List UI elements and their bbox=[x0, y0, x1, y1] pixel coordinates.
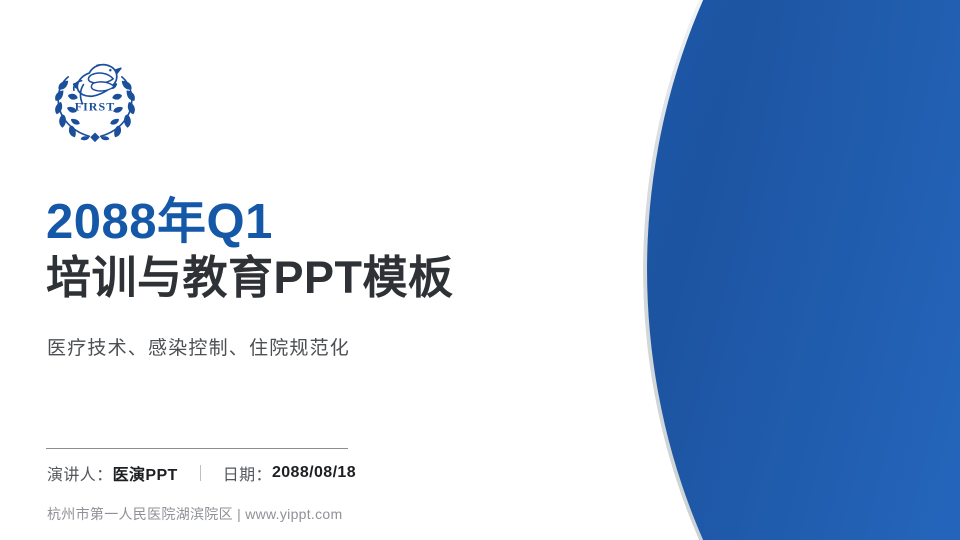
title-line-1: 2088年Q1 bbox=[46, 196, 516, 250]
page-title: 2088年Q1 培训与教育PPT模板 bbox=[46, 196, 516, 304]
slide-content: FIRST 2088年Q1 培训与教育PPT模板 医疗技术、感染控制、住院规范化… bbox=[46, 0, 466, 540]
date-value: 2088/08/18 bbox=[272, 464, 356, 482]
presentation-slide: FIRST 2088年Q1 培训与教育PPT模板 医疗技术、感染控制、住院规范化… bbox=[0, 0, 960, 540]
first-hospital-dove-logo: FIRST bbox=[47, 52, 143, 144]
hand-holding-film bbox=[520, 347, 623, 486]
meta-separator bbox=[200, 465, 201, 481]
divider bbox=[46, 448, 348, 449]
finger bbox=[534, 412, 601, 436]
finger bbox=[528, 364, 595, 388]
logo-wordmark: FIRST bbox=[75, 99, 116, 113]
presenter-meta: 演讲人： 医演PPT 日期： 2088/08/18 bbox=[47, 461, 356, 485]
presenter-label: 演讲人： bbox=[47, 461, 113, 485]
white-coat bbox=[452, 286, 580, 540]
subtitle: 医疗技术、感染控制、住院规范化 bbox=[47, 333, 350, 360]
film-dark-edge bbox=[483, 301, 556, 465]
date-label: 日期： bbox=[223, 461, 272, 485]
footer-credit: 杭州市第一人民医院湖滨院区 | www.yippt.com bbox=[47, 504, 342, 524]
finger bbox=[531, 388, 598, 412]
finger bbox=[538, 436, 605, 460]
presenter-value: 医演PPT bbox=[113, 461, 178, 485]
title-line-2: 培训与教育PPT模板 bbox=[46, 252, 516, 304]
